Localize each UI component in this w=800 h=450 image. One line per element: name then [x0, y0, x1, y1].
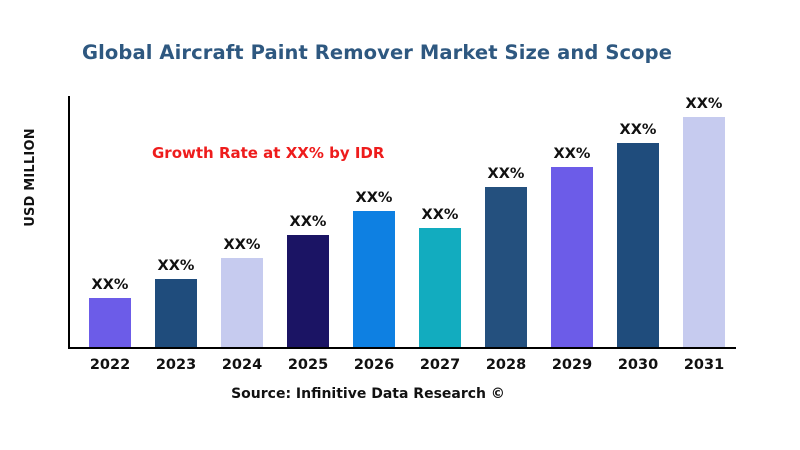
bar-2029[interactable]: [551, 167, 593, 347]
x-tick-label-2026: 2026: [341, 356, 407, 374]
bar-value-label-2025: XX%: [275, 214, 341, 230]
x-tick-label-2024: 2024: [209, 356, 275, 374]
bar-group-2028: XX%: [473, 96, 539, 347]
bar-group-2031: XX%: [671, 96, 737, 347]
bar-2024[interactable]: [221, 258, 263, 347]
bar-value-label-2022: XX%: [77, 277, 143, 293]
x-tick-label-2030: 2030: [605, 356, 671, 374]
bar-2030[interactable]: [617, 143, 659, 347]
y-axis-title: USD MILLION: [0, 96, 60, 258]
bar-2027[interactable]: [419, 228, 461, 347]
y-axis-title-text: USD MILLION: [23, 128, 38, 227]
x-axis-line: [68, 347, 736, 349]
bar-value-label-2027: XX%: [407, 207, 473, 223]
plot-area: XX%XX%XX%XX%XX%XX%XX%XX%XX%XX%: [68, 96, 736, 348]
x-tick-label-2031: 2031: [671, 356, 737, 374]
x-tick-label-2029: 2029: [539, 356, 605, 374]
bar-group-2024: XX%: [209, 96, 275, 347]
bar-2026[interactable]: [353, 211, 395, 347]
bar-2031[interactable]: [683, 117, 725, 347]
x-tick-label-2025: 2025: [275, 356, 341, 374]
bar-value-label-2030: XX%: [605, 122, 671, 138]
source-note: Source: Infinitive Data Research ©: [0, 385, 736, 403]
bar-2023[interactable]: [155, 279, 197, 347]
bar-value-label-2026: XX%: [341, 190, 407, 206]
y-axis-line: [68, 96, 70, 348]
x-tick-label-2023: 2023: [143, 356, 209, 374]
bar-value-label-2031: XX%: [671, 96, 737, 112]
bar-value-label-2028: XX%: [473, 166, 539, 182]
bar-2022[interactable]: [89, 298, 131, 347]
bar-2028[interactable]: [485, 187, 527, 347]
bar-group-2025: XX%: [275, 96, 341, 347]
bar-value-label-2023: XX%: [143, 258, 209, 274]
bar-value-label-2024: XX%: [209, 237, 275, 253]
x-tick-label-2028: 2028: [473, 356, 539, 374]
bar-group-2029: XX%: [539, 96, 605, 347]
page-title: Global Aircraft Paint Remover Market Siz…: [82, 39, 672, 67]
bar-group-2030: XX%: [605, 96, 671, 347]
bar-group-2027: XX%: [407, 96, 473, 347]
bar-group-2026: XX%: [341, 96, 407, 347]
bar-group-2023: XX%: [143, 96, 209, 347]
x-tick-label-2027: 2027: [407, 356, 473, 374]
bar-value-label-2029: XX%: [539, 146, 605, 162]
x-tick-label-2022: 2022: [77, 356, 143, 374]
bar-group-2022: XX%: [77, 96, 143, 347]
bar-chart: Global Aircraft Paint Remover Market Siz…: [0, 0, 800, 450]
bar-2025[interactable]: [287, 235, 329, 347]
